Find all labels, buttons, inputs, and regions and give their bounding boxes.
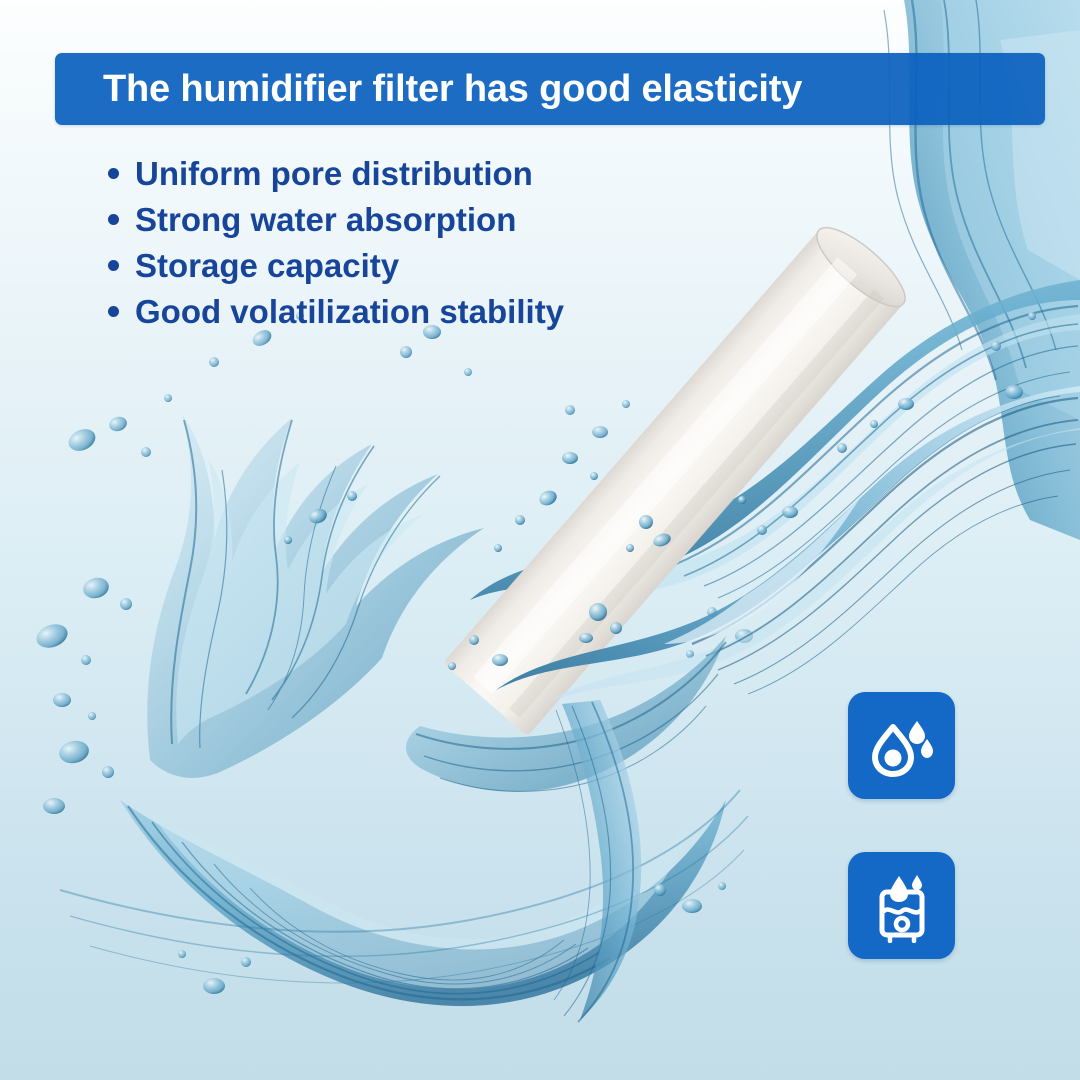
- feature-item-uniform-pore-distribution: Uniform pore distribution: [108, 157, 564, 203]
- badge-humidifier-tank: [848, 852, 955, 959]
- bullet-dot-icon: [108, 168, 119, 179]
- feature-item-strong-water-absorption: Strong water absorption: [108, 203, 564, 249]
- feature-label: Good volatilization stability: [135, 295, 564, 328]
- product-feature-banner: The humidifier filter has good elasticit…: [0, 0, 1080, 1080]
- bullet-dot-icon: [108, 306, 119, 317]
- feature-list: Uniform pore distribution Strong water a…: [108, 157, 564, 341]
- header-banner: The humidifier filter has good elasticit…: [55, 53, 1045, 125]
- bullet-dot-icon: [108, 214, 119, 225]
- water-drops-icon: [865, 709, 939, 783]
- banner-title: The humidifier filter has good elasticit…: [55, 70, 802, 108]
- badge-water-drops: [848, 692, 955, 799]
- bullet-dot-icon: [108, 260, 119, 271]
- feature-label: Storage capacity: [135, 249, 399, 282]
- feature-label: Strong water absorption: [135, 203, 516, 236]
- feature-item-good-volatilization-stability: Good volatilization stability: [108, 295, 564, 341]
- water-droplets-foreground: [284, 398, 914, 670]
- feature-item-storage-capacity: Storage capacity: [108, 249, 564, 295]
- feature-label: Uniform pore distribution: [135, 157, 533, 190]
- water-wave-across-product: [496, 386, 1080, 706]
- humidifier-tank-icon: [865, 869, 939, 943]
